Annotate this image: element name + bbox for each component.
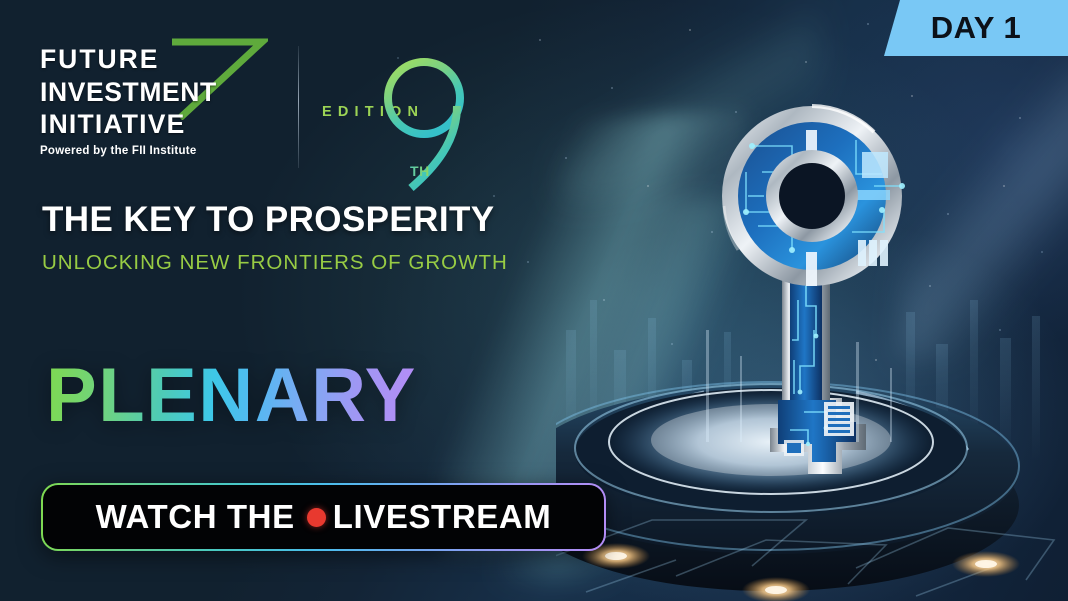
logo-line-1: FUTURE <box>40 46 276 73</box>
logo-tagline: Powered by the FII Institute <box>40 145 276 157</box>
watch-livestream-button[interactable]: WATCH THE LIVESTREAM <box>41 483 606 551</box>
logo-line-3: INITIATIVE <box>40 111 276 138</box>
page-title: THE KEY TO PROSPERITY <box>42 200 494 240</box>
cta-label-after: LIVESTREAM <box>333 498 552 536</box>
circuit-key-illustration <box>556 0 1068 601</box>
edition-block: EDITION TH <box>322 50 467 200</box>
day-badge-label: DAY 1 <box>931 10 1021 46</box>
vertical-divider-icon <box>298 46 299 168</box>
live-record-dot-icon <box>307 508 326 527</box>
page-subtitle: UNLOCKING NEW FRONTIERS OF GROWTH <box>42 251 508 275</box>
event-banner: DAY 1 FUTURE INVESTMENT INITIATIVE Power… <box>0 0 1068 601</box>
session-label: PLENARY <box>46 358 417 434</box>
edition-ordinal: TH <box>410 163 430 179</box>
logo-line-2: INVESTMENT <box>40 79 276 106</box>
watch-livestream-button-inner[interactable]: WATCH THE LIVESTREAM <box>43 485 604 549</box>
day-badge: DAY 1 <box>884 0 1068 56</box>
cta-label-before: WATCH THE <box>96 498 295 536</box>
fii-logo-lockup: FUTURE INVESTMENT INITIATIVE Powered by … <box>40 46 276 157</box>
fii-logo-block: FUTURE INVESTMENT INITIATIVE Powered by … <box>40 46 460 170</box>
